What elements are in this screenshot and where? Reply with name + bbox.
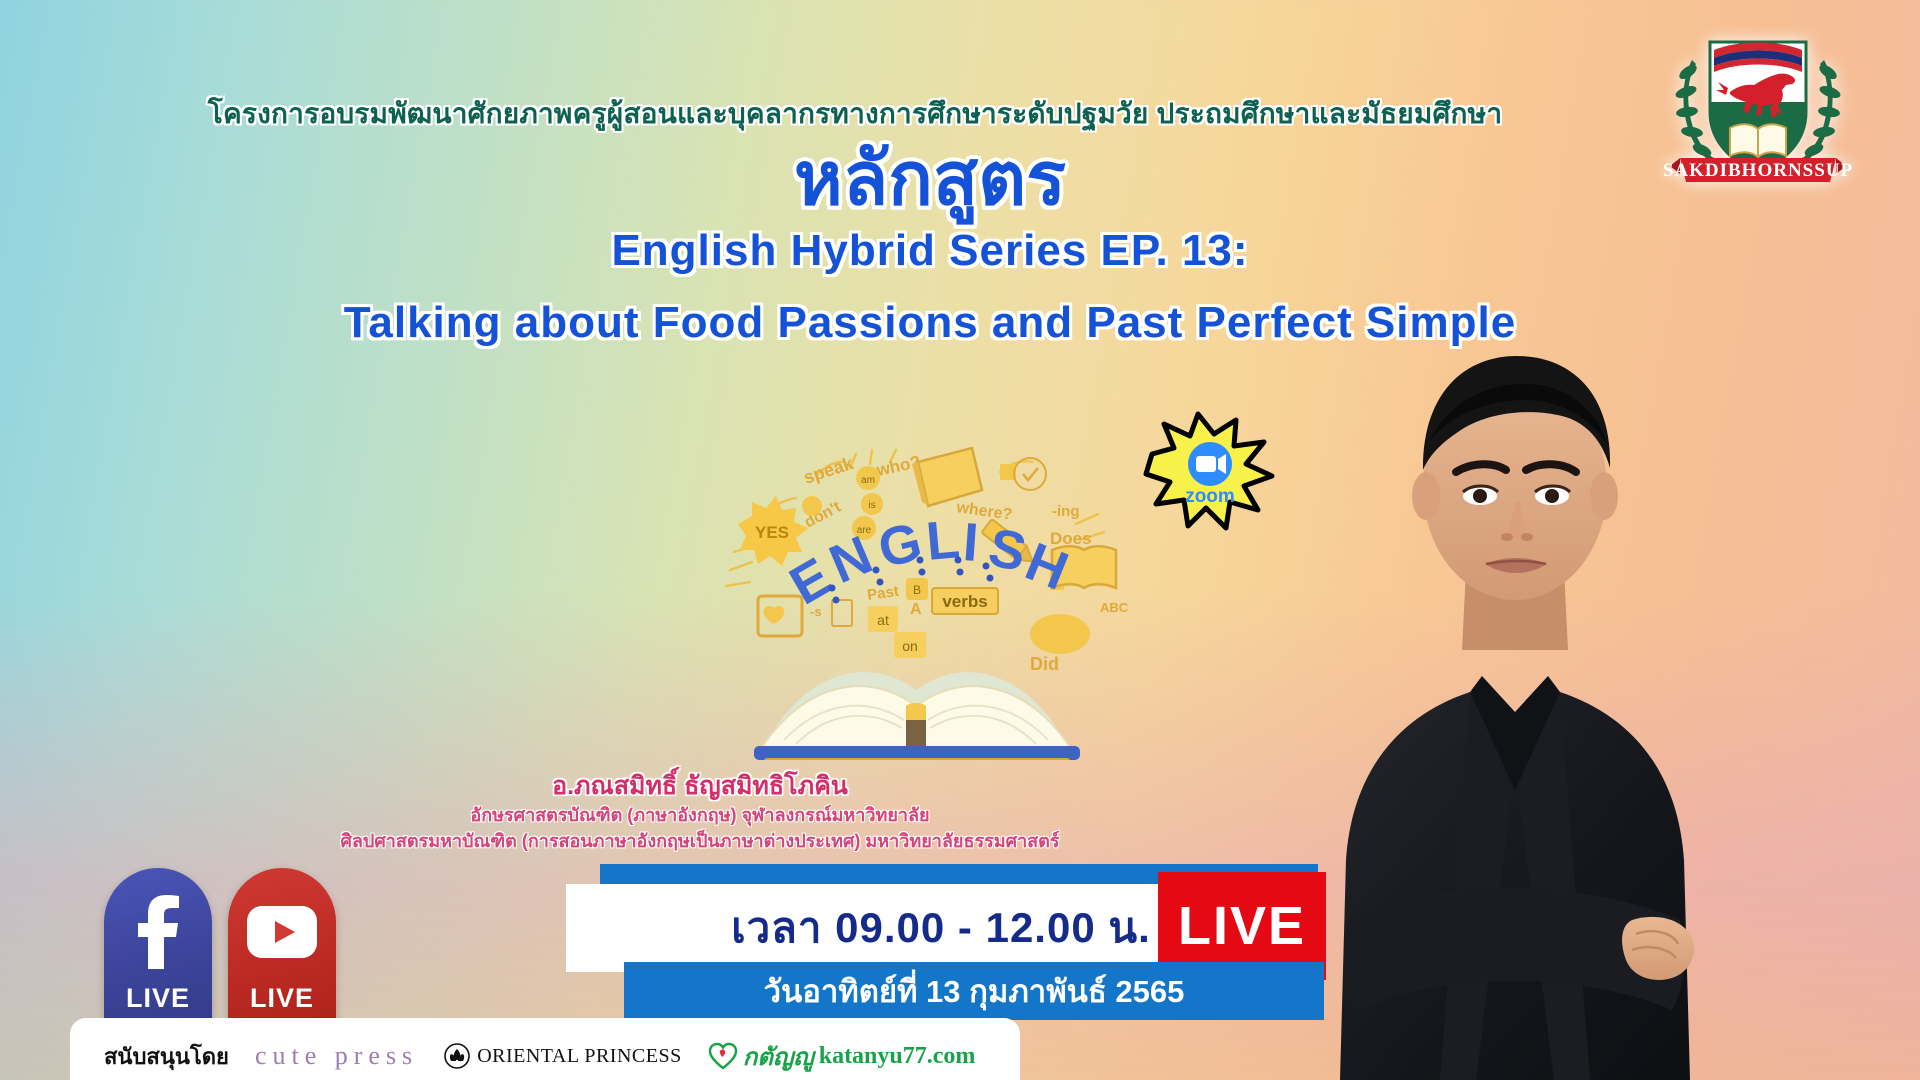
svg-text:ABC: ABC bbox=[1100, 600, 1129, 615]
svg-text:A: A bbox=[910, 601, 922, 618]
katanyu-heart-icon bbox=[708, 1042, 738, 1070]
speaker-degree-bachelor: อักษรศาสตรบัณฑิต (ภาษาอังกฤษ) จุฬาลงกรณ์… bbox=[0, 800, 1400, 829]
title-block: หลักสูตร English Hybrid Series EP. 13: T… bbox=[0, 140, 1920, 348]
facebook-icon bbox=[104, 880, 212, 983]
sponsor-katanyu: กตัญญู katanyu77.com bbox=[708, 1037, 976, 1076]
youtube-live-button[interactable]: LIVE bbox=[228, 868, 336, 1028]
youtube-icon bbox=[228, 880, 336, 983]
katanyu-domain-label: katanyu77.com bbox=[819, 1043, 976, 1070]
svg-text:YES: YES bbox=[755, 523, 789, 542]
svg-text:Past: Past bbox=[866, 583, 900, 604]
katanyu-thai-label: กตัญญู bbox=[743, 1037, 814, 1076]
svg-text:B: B bbox=[913, 583, 921, 597]
zoom-platform-badge: zoom bbox=[1140, 408, 1280, 538]
session-date: วันอาทิตย์ที่ 13 กุมภาพันธ์ 2565 bbox=[624, 962, 1324, 1020]
sponsor-label: สนับสนุนโดย bbox=[104, 1039, 229, 1074]
sponsor-oriental-princess: ORIENTAL PRINCESS bbox=[444, 1043, 682, 1069]
svg-text:on: on bbox=[902, 638, 918, 654]
course-title-english-line1: English Hybrid Series EP. 13: bbox=[0, 226, 1860, 276]
svg-text:at: at bbox=[877, 612, 889, 628]
english-book-illustration: YES speak who? where? -ing Does Did ABC … bbox=[700, 420, 1140, 760]
speaker-degree-master: ศิลปศาสตรมหาบัณฑิต (การสอนภาษาอังกฤษเป็น… bbox=[0, 826, 1400, 855]
oriental-princess-label: ORIENTAL PRINCESS bbox=[477, 1045, 682, 1068]
svg-text:am: am bbox=[861, 475, 875, 486]
sponsor-cute-press: cute press bbox=[255, 1041, 418, 1071]
svg-text:speak: speak bbox=[801, 453, 857, 488]
svg-text:verbs: verbs bbox=[942, 592, 987, 611]
svg-text:Did: Did bbox=[1030, 654, 1059, 674]
instructor-photo bbox=[1280, 320, 1750, 1080]
organization-header: โครงการอบรมพัฒนาศักยภาพครูผู้สอนและบุคลา… bbox=[0, 92, 1920, 136]
svg-text:is: is bbox=[868, 500, 875, 511]
svg-text:G: G bbox=[872, 511, 927, 579]
sponsor-bar: สนับสนุนโดย cute press ORIENTAL PRINCESS… bbox=[70, 1018, 1020, 1080]
svg-text:-ing: -ing bbox=[1052, 503, 1080, 520]
zoom-label: zoom bbox=[1185, 486, 1235, 507]
oriental-princess-lotus-icon bbox=[444, 1043, 470, 1069]
facebook-live-button[interactable]: LIVE bbox=[104, 868, 212, 1028]
svg-text:I: I bbox=[961, 512, 980, 573]
course-title-thai: หลักสูตร bbox=[0, 140, 1860, 218]
